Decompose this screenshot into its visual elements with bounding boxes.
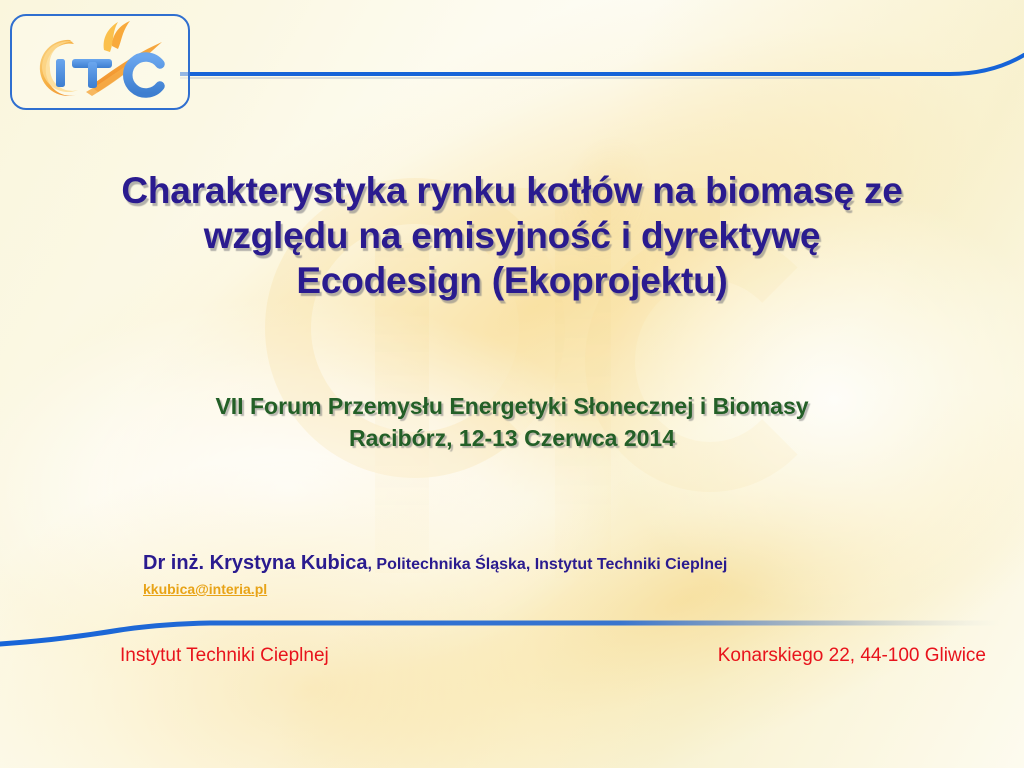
- slide-subtitle-place-date: Racibórz, 12-13 Czerwca 2014: [112, 422, 912, 454]
- slide-subtitle-event: VII Forum Przemysłu Energetyki Słoneczne…: [112, 390, 912, 422]
- itc-logo-box[interactable]: [10, 14, 190, 110]
- itc-logo-icon: [12, 16, 188, 108]
- footer-address: Konarskiego 22, 44-100 Gliwice: [718, 645, 986, 667]
- slide-subtitle: VII Forum Przemysłu Energetyki Słoneczne…: [112, 390, 912, 454]
- bottom-divider-rule: [0, 600, 1000, 650]
- author-affiliation: , Politechnika Śląska, Instytut Techniki…: [368, 556, 728, 573]
- author-email-link[interactable]: kkubica@interia.pl: [143, 581, 267, 597]
- footer-institute: Instytut Techniki Cieplnej: [120, 645, 329, 667]
- author-line: Dr inż. Krystyna Kubica, Politechnika Śl…: [143, 552, 903, 575]
- slide-title-line-1: Charakterystyka rynku kotłów na biomasę …: [62, 168, 962, 213]
- top-divider-rule: [180, 46, 1024, 96]
- author-block: Dr inż. Krystyna Kubica, Politechnika Śl…: [143, 552, 903, 599]
- slide-title: Charakterystyka rynku kotłów na biomasę …: [62, 168, 962, 303]
- slide-title-line-2: względu na emisyjność i dyrektywę: [62, 213, 962, 258]
- slide-title-line-3: Ecodesign (Ekoprojektu): [62, 258, 962, 303]
- author-name: Dr inż. Krystyna Kubica: [143, 552, 368, 574]
- presentation-slide: Charakterystyka rynku kotłów na biomasę …: [0, 0, 1024, 768]
